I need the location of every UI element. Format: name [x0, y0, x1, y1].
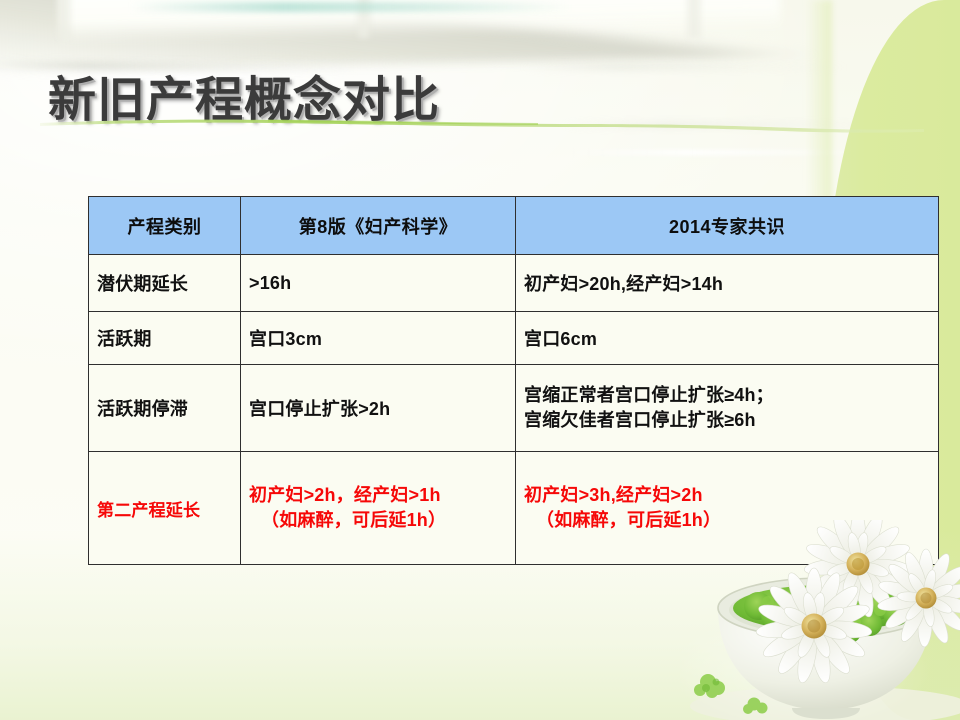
column-header-new-consensus: 2014专家共识 — [516, 197, 939, 255]
window-frame-post — [686, 0, 702, 38]
row-label-prolonged-second-stage: 第二产程延长 — [89, 452, 241, 565]
labor-stage-comparison-table: 产程类别 第8版《妇产科学》 2014专家共识 潜伏期延长 >16h 初产妇>2… — [88, 196, 939, 565]
table-row: 潜伏期延长 >16h 初产妇>20h,经产妇>14h — [89, 255, 939, 312]
glare-highlight — [560, 150, 890, 155]
teal-wisp-accent — [130, 2, 570, 12]
title-underline-brush-icon — [38, 118, 926, 134]
row-new-value: 宫缩正常者宫口停止扩张≥4h； 宫缩欠佳者宫口停止扩张≥6h — [516, 365, 939, 452]
row-old-value: 初产妇>2h，经产妇>1h （如麻醉，可后延1h） — [241, 452, 516, 565]
table-row: 第二产程延长 初产妇>2h，经产妇>1h （如麻醉，可后延1h） 初产妇>3h,… — [89, 452, 939, 565]
row-new-value: 初产妇>20h,经产妇>14h — [516, 255, 939, 312]
cell-line-2: 宫缩欠佳者宫口停止扩张≥6h — [524, 408, 930, 433]
row-old-value: >16h — [241, 255, 516, 312]
window-light-panel — [59, 0, 780, 44]
window-frame-post — [56, 0, 72, 38]
cell-line-2: （如麻醉，可后延1h） — [249, 508, 507, 533]
row-old-value: 宫口停止扩张>2h — [241, 365, 516, 452]
row-old-value: 宫口3cm — [241, 312, 516, 365]
moss-clump-icon — [694, 674, 768, 714]
cell-line-1: 初产妇>2h，经产妇>1h — [249, 483, 507, 508]
row-new-value: 宫口6cm — [516, 312, 939, 365]
row-label-active-phase: 活跃期 — [89, 312, 241, 365]
cell-line-1: 宫缩正常者宫口停止扩张≥4h； — [524, 383, 930, 408]
row-label-prolonged-latent-phase: 潜伏期延长 — [89, 255, 241, 312]
cell-line-1: 初产妇>3h,经产妇>2h — [524, 483, 930, 508]
column-header-old-edition: 第8版《妇产科学》 — [241, 197, 516, 255]
window-frame-post — [356, 0, 372, 38]
table-row: 活跃期停滞 宫口停止扩张>2h 宫缩正常者宫口停止扩张≥4h； 宫缩欠佳者宫口停… — [89, 365, 939, 452]
comparison-table-container: 产程类别 第8版《妇产科学》 2014专家共识 潜伏期延长 >16h 初产妇>2… — [88, 196, 938, 565]
column-header-category: 产程类别 — [89, 197, 241, 255]
glare-streak — [520, 64, 850, 71]
table-row: 活跃期 宫口3cm 宫口6cm — [89, 312, 939, 365]
slide-canvas: 新旧产程概念对比 产程类别 第8版《妇产科学》 — [0, 0, 960, 720]
cell-line-2: （如麻醉，可后延1h） — [524, 508, 930, 533]
table-header-row: 产程类别 第8版《妇产科学》 2014专家共识 — [89, 197, 939, 255]
row-label-active-phase-arrest: 活跃期停滞 — [89, 365, 241, 452]
row-new-value: 初产妇>3h,经产妇>2h （如麻醉，可后延1h） — [516, 452, 939, 565]
